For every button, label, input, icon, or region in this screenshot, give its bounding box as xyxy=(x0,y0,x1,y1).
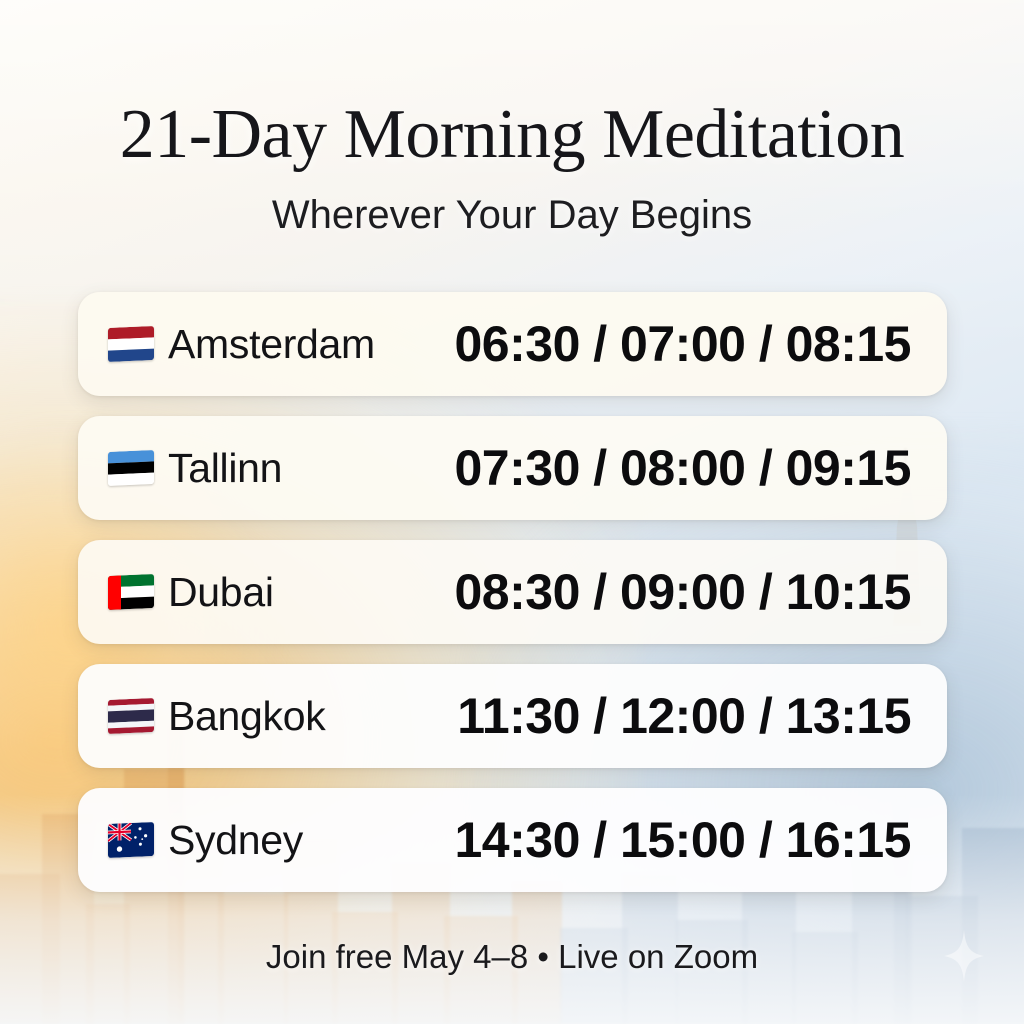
page-subtitle: Wherever Your Day Begins xyxy=(0,193,1024,238)
city-group: Bangkok xyxy=(108,693,440,740)
schedule-list: Amsterdam 06:30 / 07:00 / 08:15 Tallinn … xyxy=(78,292,947,912)
flag-estonia-icon xyxy=(108,450,154,486)
city-group: Amsterdam xyxy=(108,321,440,368)
schedule-row-bangkok[interactable]: Bangkok 11:30 / 12:00 / 13:15 xyxy=(78,664,947,768)
schedule-row-tallinn[interactable]: Tallinn 07:30 / 08:00 / 09:15 xyxy=(78,416,947,520)
schedule-row-amsterdam[interactable]: Amsterdam 06:30 / 07:00 / 08:15 xyxy=(78,292,947,396)
page-title: 21-Day Morning Meditation xyxy=(0,95,1024,175)
city-name: Tallinn xyxy=(168,445,282,492)
session-times: 06:30 / 07:00 / 08:15 xyxy=(440,315,911,373)
city-group: Tallinn xyxy=(108,445,440,492)
city-group: Dubai xyxy=(108,569,440,616)
city-name: Sydney xyxy=(168,817,303,864)
poster-canvas: 21-Day Morning Meditation Wherever Your … xyxy=(0,0,1024,1024)
sparkle-icon xyxy=(944,930,984,982)
session-times: 07:30 / 08:00 / 09:15 xyxy=(440,439,911,497)
session-times: 08:30 / 09:00 / 10:15 xyxy=(440,563,911,621)
city-group: Sydney xyxy=(108,817,440,864)
flag-australia-icon xyxy=(108,822,154,858)
flag-uae-icon xyxy=(108,574,154,610)
flag-netherlands-icon xyxy=(108,326,154,362)
schedule-row-sydney[interactable]: Sydney 14:30 / 15:00 / 16:15 xyxy=(78,788,947,892)
session-times: 11:30 / 12:00 / 13:15 xyxy=(440,687,911,745)
city-name: Amsterdam xyxy=(168,321,375,368)
city-name: Bangkok xyxy=(168,693,325,740)
city-name: Dubai xyxy=(168,569,274,616)
schedule-row-dubai[interactable]: Dubai 08:30 / 09:00 / 10:15 xyxy=(78,540,947,644)
session-times: 14:30 / 15:00 / 16:15 xyxy=(440,811,911,869)
flag-thailand-icon xyxy=(108,698,154,734)
footer-note: Join free May 4–8 • Live on Zoom xyxy=(0,938,1024,976)
